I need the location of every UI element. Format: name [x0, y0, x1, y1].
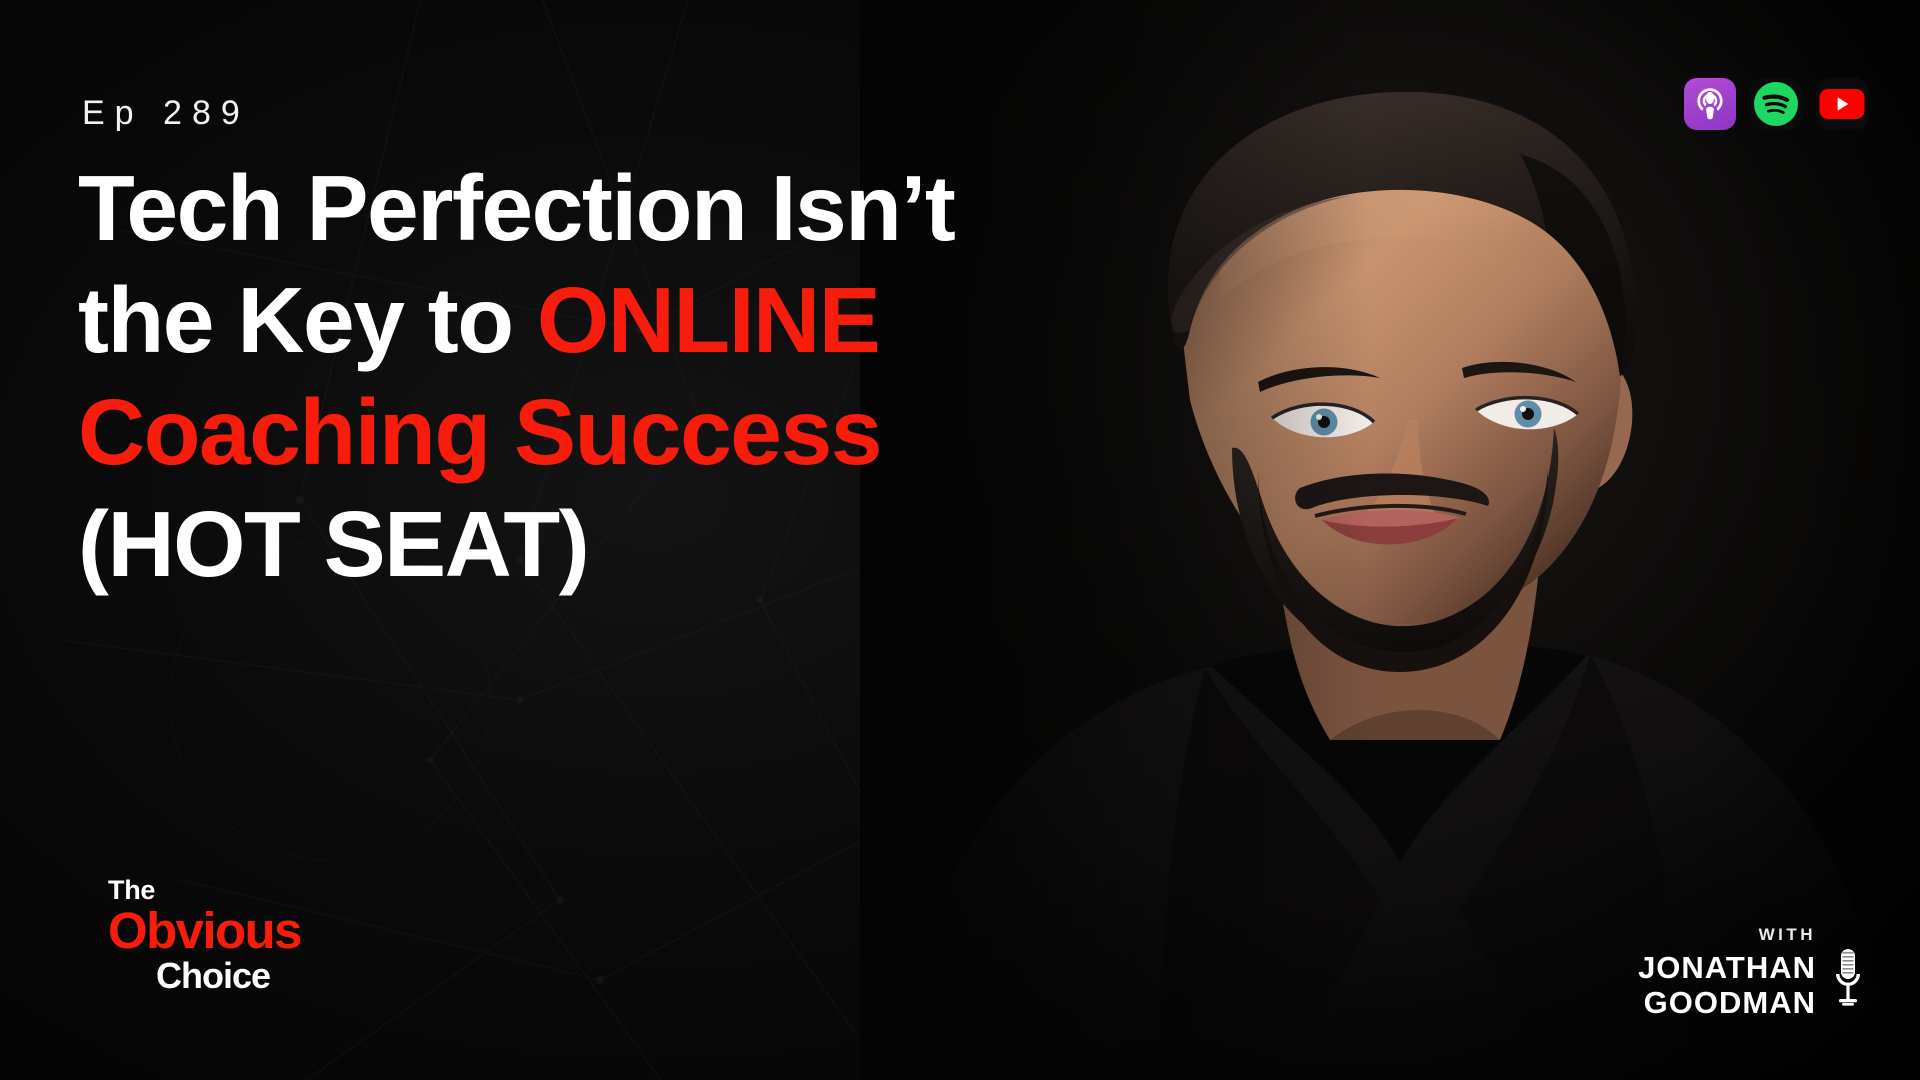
title-line-4: (HOT SEAT) — [78, 488, 1088, 600]
show-logo-choice: Choice — [156, 958, 301, 994]
title-line-3: Coaching Success — [78, 376, 1088, 488]
title-line-2: the Key to ONLINE — [78, 264, 1088, 376]
spotify-badge[interactable] — [1750, 78, 1802, 130]
title-line-1: Tech Perfection Isn’t — [78, 152, 1088, 264]
host-with-label: WITH — [1638, 926, 1816, 943]
youtube-badge[interactable] — [1816, 78, 1868, 130]
host-credit: WITH JONATHAN GOODMAN — [1638, 926, 1868, 1018]
spotify-icon — [1753, 81, 1799, 127]
episode-number-label: Ep 289 — [82, 94, 250, 133]
episode-title: Tech Perfection Isn’t the Key to ONLINE … — [78, 152, 1088, 600]
title-line-2-highlight: ONLINE — [537, 268, 879, 372]
host-name-block: WITH JONATHAN GOODMAN — [1638, 926, 1816, 1018]
show-logo[interactable]: The Obvious Choice — [108, 877, 301, 994]
host-first-name: JONATHAN — [1638, 952, 1816, 983]
microphone-icon — [1828, 946, 1868, 1016]
show-logo-obvious: Obvious — [108, 905, 301, 956]
apple-podcasts-badge[interactable] — [1684, 78, 1736, 130]
title-line-2-white: the Key to — [78, 268, 537, 372]
youtube-icon — [1819, 87, 1865, 121]
host-last-name: GOODMAN — [1638, 987, 1816, 1018]
podcast-thumbnail: Ep 289 Tech Perfection Isn’t the Key to … — [0, 0, 1920, 1080]
apple-podcasts-icon — [1695, 87, 1725, 121]
platform-badges — [1684, 78, 1868, 130]
show-logo-the: The — [108, 877, 301, 904]
